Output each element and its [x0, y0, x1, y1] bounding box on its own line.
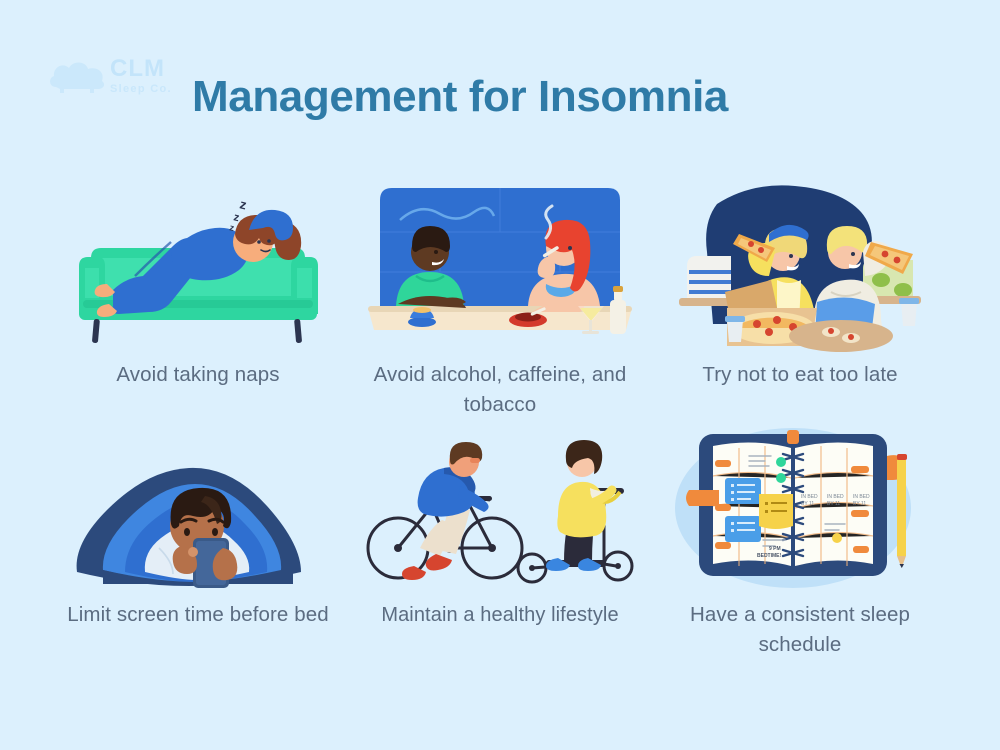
svg-text:BY 11: BY 11 [801, 501, 814, 507]
brand-name: CLM [110, 57, 172, 81]
illustration-planner-notebook: IN BED BY 11 IN BED BY 11 IN BED BY 11 9… [650, 420, 950, 592]
tip-card-healthy-lifestyle: Maintain a healthy lifestyle [350, 420, 650, 630]
tip-caption: Avoid alcohol, caffeine, and tobacco [350, 352, 650, 420]
svg-text:9 PM: 9 PM [769, 546, 781, 552]
tip-card-limit-screen-time: Limit screen time before bed [48, 420, 348, 630]
brand-tagline: Sleep Co. [110, 81, 172, 97]
tips-grid: z z z Avoid taking naps [0, 180, 1000, 700]
svg-text:BY 11: BY 11 [853, 501, 866, 507]
tip-caption: Limit screen time before bed [48, 592, 348, 630]
svg-text:IN BED: IN BED [853, 494, 870, 500]
page-title: Management for Insomnia [192, 72, 728, 122]
illustration-two-people-at-bar [350, 180, 650, 352]
illustration-cyclist-and-scooter [350, 420, 650, 592]
tip-card-eat-early: Try not to eat too late [650, 180, 950, 390]
illustration-under-blanket-with-phone [48, 420, 348, 592]
svg-text:IN BED: IN BED [827, 494, 844, 500]
svg-text:IN BED: IN BED [801, 494, 818, 500]
illustration-eating-pizza [650, 180, 950, 352]
svg-text:z: z [238, 196, 248, 212]
tip-card-avoid-naps: z z z Avoid taking naps [48, 180, 348, 390]
tip-caption: Avoid taking naps [48, 352, 348, 390]
svg-text:BY 11: BY 11 [827, 501, 840, 507]
header: CLM Sleep Co. Management for Insomnia [0, 0, 1000, 150]
tip-caption: Maintain a healthy lifestyle [350, 592, 650, 630]
tip-caption: Try not to eat too late [650, 352, 950, 390]
tip-card-consistent-schedule: IN BED BY 11 IN BED BY 11 IN BED BY 11 9… [650, 420, 950, 660]
infographic-page: CLM Sleep Co. Management for Insomnia [0, 0, 1000, 750]
brand-logo: CLM Sleep Co. [48, 55, 178, 105]
svg-text:BEDTIME!: BEDTIME! [757, 553, 782, 559]
tip-card-avoid-substances: Avoid alcohol, caffeine, and tobacco [350, 180, 650, 420]
illustration-person-napping-on-couch: z z z [48, 180, 348, 352]
tip-caption: Have a consistent sleep schedule [650, 592, 950, 660]
